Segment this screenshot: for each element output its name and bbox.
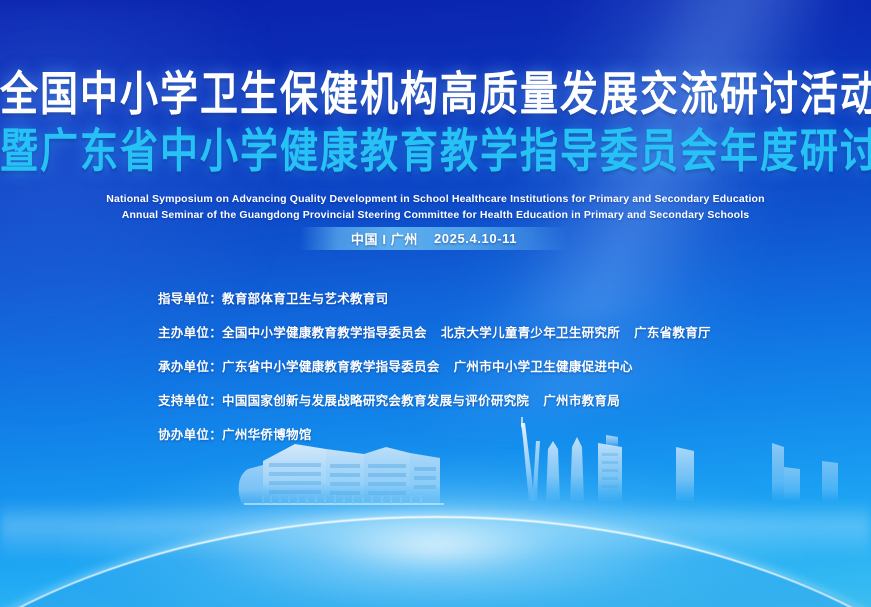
organizer-row: 支持单位：中国国家创新与发展战略研究会教育发展与评价研究院广州市教育局 (158, 390, 711, 409)
organizer-value: 北京大学儿童青少年卫生研究所 (441, 322, 620, 341)
organizer-label: 主办单位： (158, 322, 222, 341)
organizer-list: 指导单位：教育部体育卫生与艺术教育司主办单位：全国中小学健康教育教学指导委员会北… (158, 288, 711, 443)
organizer-row: 主办单位：全国中小学健康教育教学指导委员会北京大学儿童青少年卫生研究所广东省教育… (158, 322, 711, 341)
organizer-row: 协办单位：广州华侨博物馆 (158, 424, 711, 443)
event-info-badge: 中国 I 广州 2025.4.10-11 (300, 227, 568, 250)
organizer-value: 广州市中小学卫生健康促进中心 (454, 356, 633, 375)
organizer-row: 指导单位：教育部体育卫生与艺术教育司 (158, 288, 711, 307)
badge-content: 中国 I 广州 2025.4.10-11 (300, 227, 568, 250)
organizer-value: 教育部体育卫生与艺术教育司 (222, 288, 388, 307)
organizer-row: 承办单位：广东省中小学健康教育教学指导委员会广州市中小学卫生健康促进中心 (158, 356, 711, 375)
badge-location: 中国 I 广州 (351, 229, 418, 248)
organizer-value: 广东省中小学健康教育教学指导委员会 (222, 356, 440, 375)
poster-title-block: 全国中小学卫生保健机构高质量发展交流研讨活动 暨广东省中小学健康教育教学指导委员… (0, 72, 871, 224)
organizer-value: 中国国家创新与发展战略研究会教育发展与评价研究院 (222, 390, 529, 409)
organizer-values: 教育部体育卫生与艺术教育司 (222, 288, 388, 307)
organizer-value: 广州市教育局 (543, 390, 620, 409)
organizer-values: 广州华侨博物馆 (222, 424, 312, 443)
organizer-values: 广东省中小学健康教育教学指导委员会广州市中小学卫生健康促进中心 (222, 356, 633, 375)
organizer-values: 全国中小学健康教育教学指导委员会北京大学儿童青少年卫生研究所广东省教育厅 (222, 322, 711, 341)
title-english: National Symposium on Advancing Quality … (0, 191, 871, 224)
conference-poster: 全国中小学卫生保健机构高质量发展交流研讨活动 暨广东省中小学健康教育教学指导委员… (0, 0, 871, 607)
title-chinese-line2: 暨广东省中小学健康教育教学指导委员会年度研讨活动 (0, 129, 871, 175)
organizer-value: 广州华侨博物馆 (222, 424, 312, 443)
organizer-label: 指导单位： (158, 288, 222, 307)
title-english-line2: Annual Seminar of the Guangdong Provinci… (0, 207, 871, 223)
organizer-value: 全国中小学健康教育教学指导委员会 (222, 322, 427, 341)
title-chinese-line1: 全国中小学卫生保健机构高质量发展交流研讨活动 (0, 72, 871, 118)
organizer-value: 广东省教育厅 (634, 322, 711, 341)
organizer-label: 承办单位： (158, 356, 222, 375)
organizer-values: 中国国家创新与发展战略研究会教育发展与评价研究院广州市教育局 (222, 390, 620, 409)
organizer-label: 协办单位： (158, 424, 222, 443)
organizer-label: 支持单位： (158, 390, 222, 409)
badge-date: 2025.4.10-11 (434, 231, 517, 246)
title-english-line1: National Symposium on Advancing Quality … (0, 191, 871, 207)
